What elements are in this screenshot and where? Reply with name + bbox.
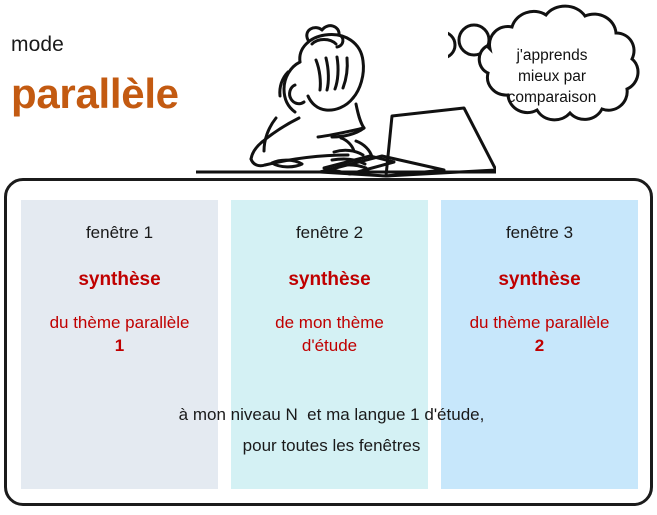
window-column-2[interactable]: fenêtre 2 synthèse de mon thèmed'étude bbox=[231, 200, 428, 489]
window-1-subject: du thème parallèle bbox=[50, 311, 190, 334]
window-column-1[interactable]: fenêtre 1 synthèse du thème parallèle 1 bbox=[21, 200, 218, 489]
parallel-mode-panel: fenêtre 1 synthèse du thème parallèle 1 … bbox=[4, 178, 653, 506]
window-1-title: fenêtre 1 bbox=[86, 222, 153, 244]
window-column-3[interactable]: fenêtre 3 synthèse du thème parallèle 2 bbox=[441, 200, 638, 489]
thought-bubble: j'apprends mieux par comparaison bbox=[448, 2, 656, 147]
window-3-title: fenêtre 3 bbox=[506, 222, 573, 244]
window-2-subject: de mon thèmed'étude bbox=[275, 311, 384, 357]
window-3-synthese: synthèse bbox=[498, 268, 580, 291]
window-2-synthese: synthèse bbox=[288, 268, 370, 291]
window-1-synthese: synthèse bbox=[78, 268, 160, 291]
bubble-line-2: mieux par bbox=[518, 66, 586, 87]
windows-columns: fenêtre 1 synthèse du thème parallèle 1 … bbox=[21, 200, 638, 489]
window-3-number: 2 bbox=[535, 334, 544, 357]
window-3-subject: du thème parallèle bbox=[470, 311, 610, 334]
thought-bubble-text: j'apprends mieux par comparaison bbox=[448, 2, 656, 147]
mode-label: mode bbox=[11, 33, 64, 57]
window-1-number: 1 bbox=[115, 334, 124, 357]
bubble-line-3: comparaison bbox=[508, 87, 597, 108]
window-2-title: fenêtre 2 bbox=[296, 222, 363, 244]
mode-name-parallele: parallèle bbox=[11, 70, 179, 118]
header-area: mode parallèle bbox=[0, 0, 657, 178]
bubble-line-1: j'apprends bbox=[516, 45, 587, 66]
